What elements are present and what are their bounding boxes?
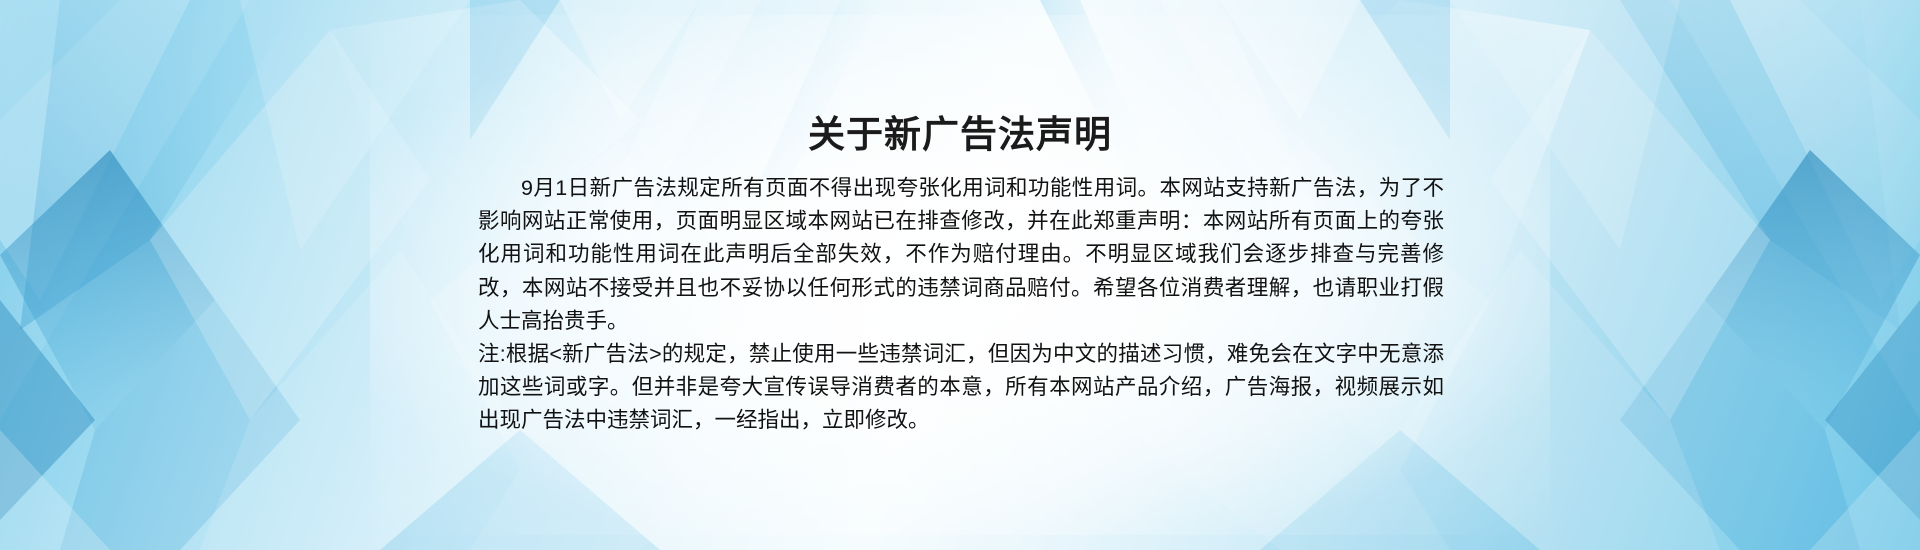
- statement-content: 关于新广告法声明 9月1日新广告法规定所有页面不得出现夸张化用词和功能性用词。本…: [0, 0, 1920, 550]
- statement-paragraph-1: 9月1日新广告法规定所有页面不得出现夸张化用词和功能性用词。本网站支持新广告法，…: [478, 172, 1444, 338]
- advertising-law-statement-banner: 关于新广告法声明 9月1日新广告法规定所有页面不得出现夸张化用词和功能性用词。本…: [0, 0, 1920, 550]
- page-title: 关于新广告法声明: [0, 113, 1920, 157]
- statement-body: 9月1日新广告法规定所有页面不得出现夸张化用词和功能性用词。本网站支持新广告法，…: [478, 172, 1444, 438]
- statement-paragraph-2: 注:根据<新广告法>的规定，禁止使用一些违禁词汇，但因为中文的描述习惯，难免会在…: [478, 338, 1444, 438]
